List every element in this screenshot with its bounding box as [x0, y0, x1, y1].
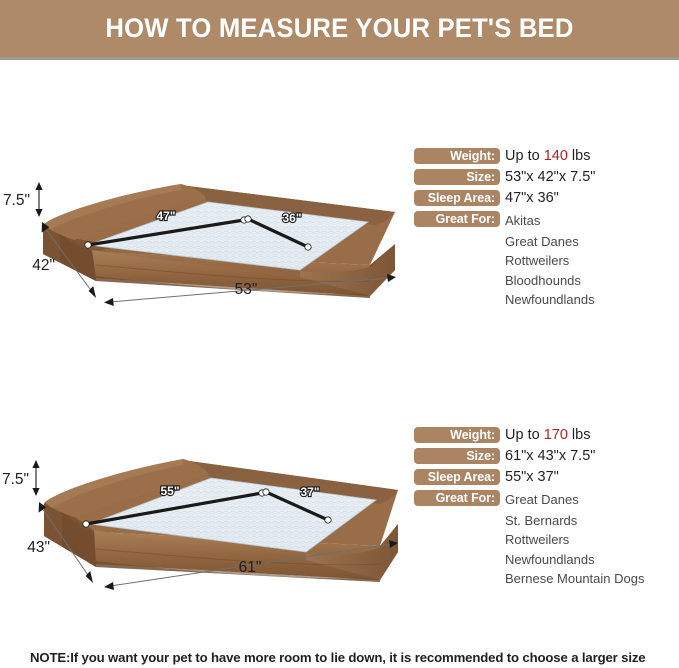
footer-note: NOTE:If you want your pet to have more r…: [30, 650, 645, 665]
weight-prefix: Up to: [505, 148, 544, 164]
spec-row-size: Size: 53"x 42"x 7.5": [414, 169, 679, 190]
dim-sleep-depth-1: 36": [282, 211, 301, 225]
dim-depth-1: 42": [32, 257, 55, 274]
weight-value: 170: [544, 427, 568, 443]
breed-item: Newfoundlands: [505, 290, 679, 309]
dim-height-2: 7.5": [2, 471, 29, 488]
breed-item: Akitas: [505, 211, 540, 230]
label-weight: Weight:: [414, 148, 500, 164]
breed-item: Newfoundlands: [505, 550, 679, 569]
bed-illustration-xlarge: 55" 37" 7.5" 43" 61": [0, 420, 400, 610]
label-size: Size:: [414, 169, 500, 185]
spec-row-great-for: Great For: Great Danes: [414, 490, 679, 511]
spec-row-sleep-area: Sleep Area: 47"x 36": [414, 190, 679, 211]
label-weight: Weight:: [414, 427, 500, 443]
breed-item: Rottweilers: [505, 530, 679, 549]
spec-row-sleep-area: Sleep Area: 55"x 37": [414, 469, 679, 490]
weight-suffix: lbs: [568, 148, 591, 164]
label-great-for: Great For:: [414, 490, 500, 506]
value-weight: Up to 140 lbs: [505, 148, 590, 165]
label-sleep-area: Sleep Area:: [414, 190, 500, 206]
value-size: 61"x 43"x 7.5": [505, 448, 595, 465]
spec-row-size: Size: 61"x 43"x 7.5": [414, 448, 679, 469]
breed-item: Great Danes: [505, 490, 579, 509]
weight-value: 140: [544, 148, 568, 164]
breed-item: Rottweilers: [505, 251, 679, 270]
dim-sleep-width-2: 55": [160, 484, 179, 498]
breed-list-large: Great Danes Rottweilers Bloodhounds Newf…: [505, 232, 679, 310]
dim-sleep-width-1: 47": [156, 209, 175, 223]
value-size: 53"x 42"x 7.5": [505, 169, 595, 186]
breed-item: Bloodhounds: [505, 271, 679, 290]
label-great-for: Great For:: [414, 211, 500, 227]
dim-depth-2: 43": [27, 539, 50, 556]
breed-list-xlarge: St. Bernards Rottweilers Newfoundlands B…: [505, 511, 679, 589]
dim-sleep-depth-2: 37": [300, 485, 319, 499]
spec-row-weight: Weight: Up to 140 lbs: [414, 148, 679, 169]
spec-row-weight: Weight: Up to 170 lbs: [414, 427, 679, 448]
value-sleep-area: 55"x 37": [505, 469, 559, 486]
breed-item: Bernese Mountain Dogs: [505, 569, 679, 588]
spec-row-great-for: Great For: Akitas: [414, 211, 679, 232]
breed-item: Great Danes: [505, 232, 679, 251]
value-sleep-area: 47"x 36": [505, 190, 559, 207]
dim-height-1: 7.5": [3, 192, 30, 209]
bed-illustration-large: 47" 36" 7.5" 42" 53": [0, 150, 400, 330]
bed-large-svg: 47" 36" 7.5" 42" 53": [0, 150, 400, 330]
bed-xlarge-svg: 55" 37" 7.5" 43" 61": [0, 420, 400, 610]
page-title: HOW TO MEASURE YOUR PET'S BED: [17, 0, 662, 57]
value-weight: Up to 170 lbs: [505, 427, 590, 444]
header-underline: [0, 57, 679, 60]
label-size: Size:: [414, 448, 500, 464]
dim-width-1: 53": [235, 281, 258, 298]
breed-item: St. Bernards: [505, 511, 679, 530]
dim-width-2: 61": [239, 559, 262, 576]
weight-prefix: Up to: [505, 427, 544, 443]
spec-table-xlarge: Weight: Up to 170 lbs Size: 61"x 43"x 7.…: [414, 427, 679, 589]
label-sleep-area: Sleep Area:: [414, 469, 500, 485]
weight-suffix: lbs: [568, 427, 591, 443]
spec-table-large: Weight: Up to 140 lbs Size: 53"x 42"x 7.…: [414, 148, 679, 310]
